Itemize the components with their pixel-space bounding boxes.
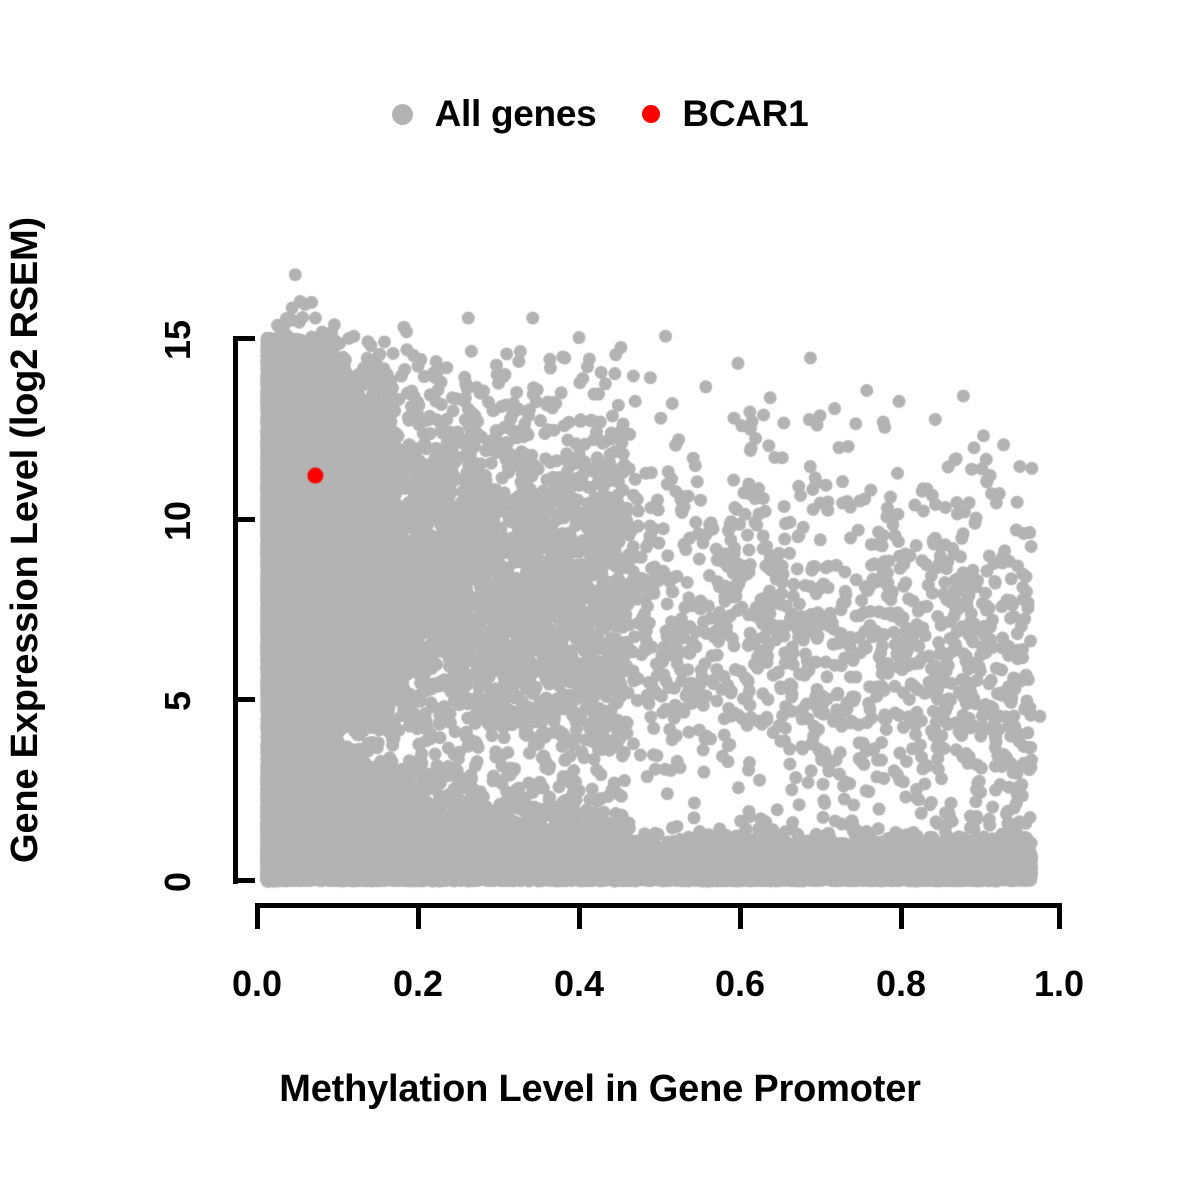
x-axis-tick-0 [255, 903, 260, 929]
x-tick-label-5: 1.0 [1009, 963, 1109, 1005]
legend-marker-all-genes-icon [392, 104, 413, 125]
x-tick-label-4: 0.8 [851, 963, 951, 1005]
x-tick-label-1: 0.2 [368, 963, 468, 1005]
legend-label-all-genes: All genes [435, 93, 597, 135]
x-axis-tick-3 [738, 903, 743, 929]
y-tick-label-15: 15 [157, 295, 199, 385]
y-axis-tick-5 [233, 697, 255, 702]
legend-marker-bcar1-icon [642, 105, 660, 123]
x-axis-title: Methylation Level in Gene Promoter [0, 1068, 1200, 1111]
y-tick-label-10: 10 [157, 476, 199, 566]
x-axis-tick-4 [899, 903, 904, 929]
x-axis-line [255, 903, 1062, 908]
scatter-plot-figure: All genes BCAR1 0 5 10 15 0.0 0.2 0.4 0.… [0, 0, 1200, 1200]
y-axis-tick-10 [233, 517, 255, 522]
y-tick-label-5: 5 [157, 671, 199, 731]
x-tick-label-3: 0.6 [690, 963, 790, 1005]
legend-label-bcar1: BCAR1 [682, 93, 808, 135]
legend: All genes BCAR1 [0, 86, 1200, 142]
legend-entry-all-genes: All genes [392, 93, 597, 135]
y-tick-label-0: 0 [157, 852, 199, 912]
x-axis-tick-2 [577, 903, 582, 929]
x-axis-tick-1 [416, 903, 421, 929]
plot-area [255, 240, 1060, 900]
x-tick-label-0: 0.0 [207, 963, 307, 1005]
y-axis-title: Gene Expression Level (log2 RSEM) [4, 0, 68, 1140]
y-axis-line [233, 338, 238, 884]
y-axis-tick-0 [233, 878, 255, 883]
scatter-points-canvas [255, 240, 1060, 900]
x-axis-tick-5 [1057, 903, 1062, 929]
legend-entry-bcar1: BCAR1 [642, 93, 808, 135]
x-tick-label-2: 0.4 [529, 963, 629, 1005]
y-axis-tick-15 [233, 336, 255, 341]
